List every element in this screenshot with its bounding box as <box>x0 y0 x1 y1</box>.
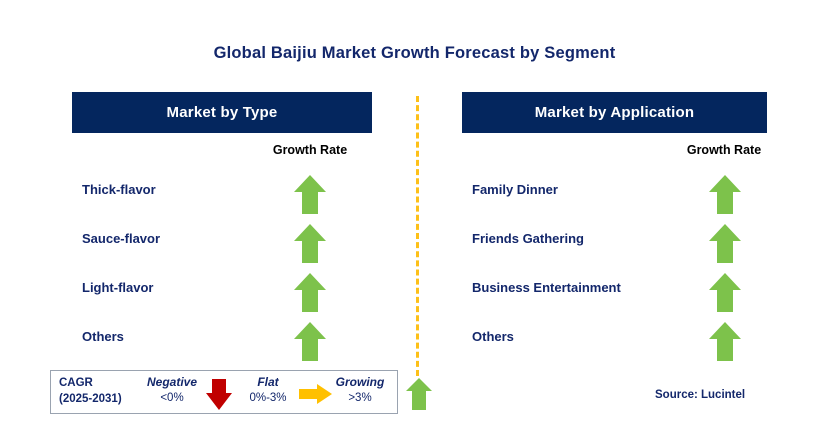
segment-label: Sauce-flavor <box>82 231 160 246</box>
panel-header-market-by-application: Market by Application <box>462 92 767 133</box>
segment-label: Others <box>82 329 124 344</box>
segment-label: Business Entertainment <box>472 280 621 295</box>
page-title: Global Baijiu Market Growth Forecast by … <box>0 44 829 63</box>
list-item: Business Entertainment <box>462 270 767 319</box>
arrow-up-icon <box>703 270 747 314</box>
segment-label: Friends Gathering <box>472 231 584 246</box>
legend-entry-flat: Flat 0%-3% <box>231 375 305 406</box>
segment-label: Others <box>472 329 514 344</box>
legend-entry-label: Growing <box>323 375 397 391</box>
arrow-up-icon <box>288 221 332 265</box>
list-item: Sauce-flavor <box>72 221 372 270</box>
legend-entry-value: >3% <box>323 391 397 407</box>
arrow-up-icon <box>703 172 747 216</box>
list-item: Light-flavor <box>72 270 372 319</box>
arrow-up-icon <box>288 319 332 363</box>
panel-header-market-by-type: Market by Type <box>72 92 372 133</box>
legend-cagr-block: CAGR (2025-2031) <box>59 376 122 407</box>
source-note: Source: Lucintel <box>655 389 745 401</box>
growth-rate-label-right: Growth Rate <box>664 143 784 157</box>
legend-entry-label: Flat <box>231 375 305 391</box>
arrow-up-icon <box>403 377 435 411</box>
legend-cagr-title: CAGR <box>59 376 122 392</box>
segment-list-type: Thick-flavor Sauce-flavor Light-flavor O… <box>72 172 372 368</box>
legend: CAGR (2025-2031) Negative <0% Flat 0%-3%… <box>50 370 398 414</box>
segment-list-application: Family Dinner Friends Gathering Business… <box>462 172 767 368</box>
list-item: Thick-flavor <box>72 172 372 221</box>
legend-entry-negative: Negative <0% <box>135 375 209 406</box>
legend-entry-value: <0% <box>135 391 209 407</box>
legend-entry-growing: Growing >3% <box>323 375 397 406</box>
vertical-dashed-divider <box>416 96 419 376</box>
arrow-up-icon <box>288 270 332 314</box>
list-item: Friends Gathering <box>462 221 767 270</box>
panel-market-by-application: Market by Application <box>462 92 767 133</box>
segment-label: Family Dinner <box>472 182 558 197</box>
growth-rate-label-left: Growth Rate <box>250 143 370 157</box>
legend-entry-value: 0%-3% <box>231 391 305 407</box>
arrow-up-icon <box>703 221 747 265</box>
list-item: Others <box>72 319 372 368</box>
arrow-up-icon <box>703 319 747 363</box>
panel-market-by-type: Market by Type <box>72 92 372 133</box>
arrow-up-icon <box>288 172 332 216</box>
segment-label: Thick-flavor <box>82 182 156 197</box>
legend-entry-label: Negative <box>135 375 209 391</box>
legend-cagr-period: (2025-2031) <box>59 392 122 408</box>
segment-label: Light-flavor <box>82 280 154 295</box>
list-item: Family Dinner <box>462 172 767 221</box>
list-item: Others <box>462 319 767 368</box>
